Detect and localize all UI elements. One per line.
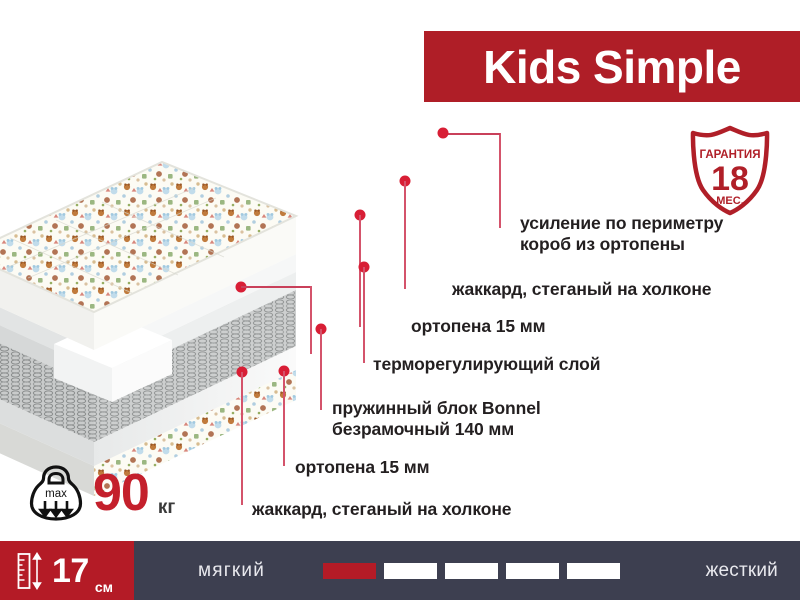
spec-label-jacquard-bottom: жаккард, стеганый на холконе — [252, 499, 511, 520]
warranty-badge: ГАРАНТИЯ 18 МЕС. — [688, 124, 772, 216]
leader-line-bonnel — [320, 329, 322, 410]
max-load-unit: кг — [158, 497, 175, 526]
height-section: 17 см — [0, 541, 134, 600]
leader-line-perimeter-h — [241, 286, 311, 288]
height-unit: см — [95, 579, 113, 600]
spec-label-thermoregulating: терморегулирующий слой — [373, 354, 600, 375]
kettlebell-icon: max — [28, 464, 84, 522]
leader-line-perimeter-riser — [499, 133, 501, 228]
bottom-info-bar: 17 см мягкий жесткий — [0, 541, 800, 600]
height-value: 17 — [52, 554, 89, 588]
spec-label-orthofoam-bottom: ортопена 15 мм — [295, 457, 429, 478]
leader-line-perimeter-v — [310, 286, 312, 354]
leader-line-jacquard-bottom — [241, 372, 243, 505]
poster-canvas: Kids Simple ГАРАНТИЯ 18 МЕС. усиление по… — [0, 0, 800, 600]
spec-label-jacquard-top: жаккард, стеганый на холконе — [452, 279, 711, 300]
product-title: Kids Simple — [483, 44, 741, 90]
kettlebell-max-label: max — [45, 488, 67, 500]
max-load-value: 90 — [93, 467, 149, 519]
leader-line-orthofoam-bottom — [283, 371, 285, 466]
spec-label-perimeter-reinforcement: усиление по периметру короб из ортопены — [520, 213, 723, 256]
firmness-soft-label: мягкий — [198, 560, 265, 582]
product-title-banner: Kids Simple — [424, 31, 800, 102]
leader-line-jacquard-top — [404, 181, 406, 289]
leader-line-perimeter-top — [443, 133, 500, 135]
firmness-section: мягкий жесткий — [134, 541, 800, 600]
firmness-segment-5[interactable] — [567, 563, 620, 579]
warranty-unit: МЕС. — [716, 195, 744, 207]
warranty-value: 18 — [711, 160, 749, 198]
firmness-segment-3[interactable] — [445, 563, 498, 579]
firmness-segment-2[interactable] — [384, 563, 437, 579]
ruler-icon — [17, 552, 44, 590]
spec-label-orthofoam-top: ортопена 15 мм — [411, 316, 545, 337]
firmness-hard-label: жесткий — [706, 560, 778, 582]
firmness-segment-1[interactable] — [323, 563, 376, 579]
max-load-block: max 90 кг — [28, 460, 175, 526]
firmness-segment-4[interactable] — [506, 563, 559, 579]
leader-dot-perimeter-top — [438, 128, 449, 139]
spec-label-bonnel-spring-block: пружинный блок Bonnel безрамочный 140 мм — [332, 398, 541, 441]
firmness-scale — [323, 563, 620, 579]
leader-line-thermoregulating — [363, 267, 365, 363]
